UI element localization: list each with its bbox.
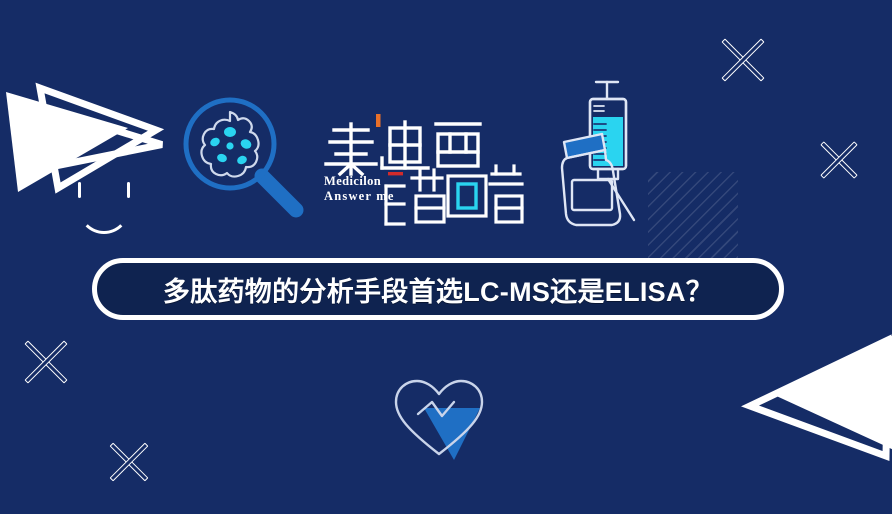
cross-mark-left — [18, 334, 74, 390]
page-title: 多肽药物的分析手段首选LC-MS还是ELISA？ — [163, 270, 713, 309]
accent-mark — [376, 114, 381, 127]
magnifier-virus-icon — [178, 92, 306, 220]
title-banner-pill: 多肽药物的分析手段首选LC-MS还是ELISA？ — [92, 258, 784, 320]
triangle-pair-bottom-right — [728, 330, 892, 490]
arc-shape — [78, 182, 130, 234]
cross-mark-bottom-left — [104, 437, 154, 487]
logo-artwork — [324, 112, 524, 230]
heart-chat-icon — [386, 372, 492, 460]
logo-highlight-box — [458, 184, 476, 208]
logo-en-line2: Answer me — [324, 189, 395, 204]
medicilon-logo: Medicilon Answer me — [324, 112, 524, 230]
cross-mark-right — [815, 136, 863, 184]
logo-english-text: Medicilon Answer me — [324, 174, 395, 204]
cross-mark-top-right — [715, 32, 771, 88]
logo-en-line1: Medicilon — [324, 174, 395, 189]
syringe-vial-icon — [546, 72, 678, 230]
banner-canvas: Medicilon Answer me 多肽药物的分析手段首选LC-MS还是EL… — [0, 0, 892, 514]
triangle-pair-top-left — [0, 40, 196, 220]
